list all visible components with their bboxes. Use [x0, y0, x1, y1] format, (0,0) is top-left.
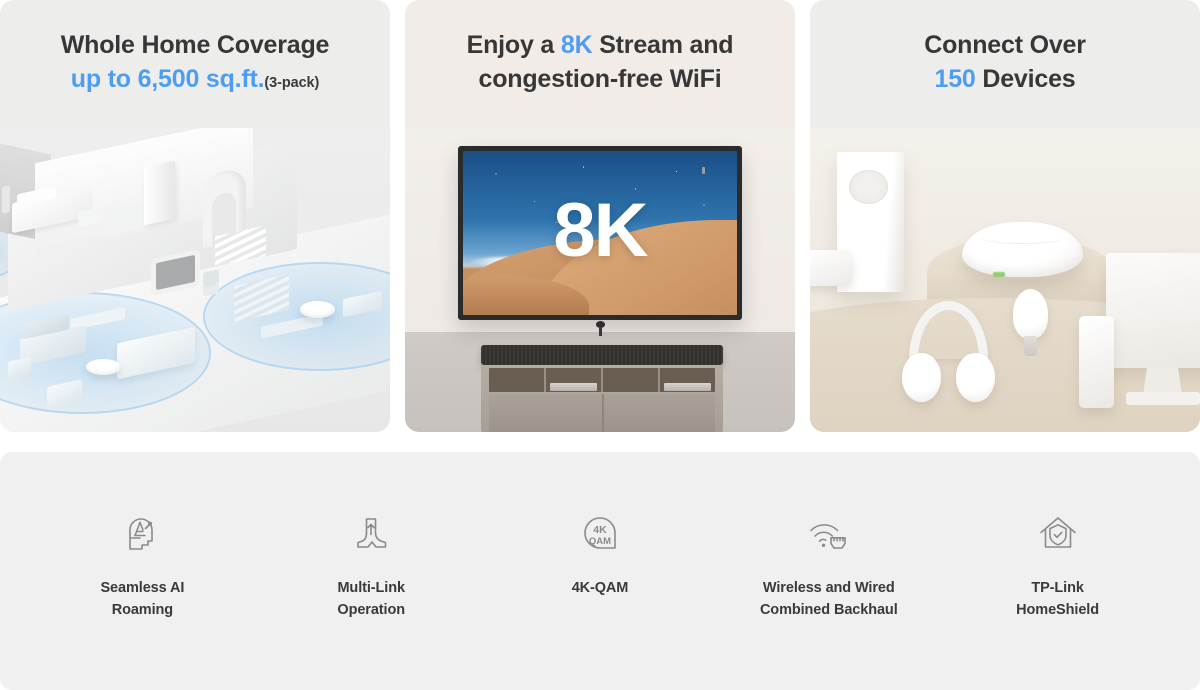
feature-label-line1: Multi-Link [337, 580, 404, 596]
shelf-cell [660, 368, 715, 392]
multi-link-icon [271, 507, 471, 559]
home-shield-icon [958, 507, 1158, 559]
feature-label-line2: Roaming [112, 602, 173, 618]
feature-label: Wireless and Wired Combined Backhaul [729, 577, 929, 622]
feature-label-line1: Seamless AI [100, 580, 184, 596]
mesh-router-unit-2 [300, 301, 335, 317]
card-2-illustration: 8K [405, 128, 795, 432]
feature-wireless-wired-backhaul[interactable]: Wireless and Wired Combined Backhaul [729, 507, 929, 622]
smartphone [1079, 316, 1114, 407]
card-2-heading: Enjoy a 8K Stream and congestion-free Wi… [405, 0, 795, 95]
feature-label: Seamless AI Roaming [42, 577, 242, 622]
card-whole-home-coverage[interactable]: Whole Home Coverage up to 6,500 sq.ft.(3… [0, 0, 390, 432]
card-3-heading-line2: 150 Devices [826, 64, 1184, 96]
card-3-accent-text: 150 [935, 65, 976, 93]
shelf-cell [546, 368, 603, 392]
feature-label-line2: HomeShield [1016, 602, 1099, 618]
card-connect-devices[interactable]: Connect Over 150 Devices [810, 0, 1200, 432]
feature-label: Multi-Link Operation [271, 577, 471, 622]
monitor-screen [1106, 253, 1200, 369]
card-2-heading-line2: congestion-free WiFi [421, 64, 779, 96]
4k-qam-icon: 4K QAM [500, 507, 700, 559]
devices-podium-scene [810, 128, 1200, 432]
card-2-accent-text: 8K [561, 31, 593, 59]
game-controller [810, 250, 853, 286]
headphone-band [909, 301, 988, 359]
feature-label-line2: Operation [337, 602, 405, 618]
feature-multi-link-operation[interactable]: Multi-Link Operation [271, 507, 471, 622]
tv-side-button [702, 167, 705, 174]
feature-cards-row: Whole Home Coverage up to 6,500 sq.ft.(3… [0, 0, 1200, 432]
card-2-heading-line1: Enjoy a 8K Stream and [421, 30, 779, 62]
console-shelf-row [489, 368, 715, 392]
feature-label-line2: Combined Backhaul [760, 602, 898, 618]
headphone-earcup-left [902, 353, 941, 401]
card-3-illustration [810, 128, 1200, 432]
wifi-ethernet-icon [729, 507, 929, 559]
television: 8K [458, 146, 743, 319]
qam-badge-bottom: QAM [589, 536, 611, 547]
card-1-accent-text: up to 6,500 sq.ft. [71, 65, 265, 93]
card-2-heading-pre: Enjoy a [467, 31, 561, 59]
living-room-tv-scene: 8K [405, 128, 795, 432]
bulb-glass [1013, 289, 1048, 338]
feature-tp-link-homeshield[interactable]: TP-Link HomeShield [958, 507, 1158, 622]
card-3-heading-line1: Connect Over [826, 30, 1184, 62]
smart-bulb [1013, 289, 1048, 356]
qam-badge-top: 4K [593, 524, 607, 536]
feature-label: 4K-QAM [500, 577, 700, 599]
tv-screen: 8K [463, 151, 738, 314]
headphone-earcup-right [956, 353, 995, 401]
feature-4k-qam[interactable]: 4K QAM 4K-QAM [500, 507, 700, 599]
shelf-cell [489, 368, 546, 392]
wardrobe [144, 161, 175, 225]
monitor-foot [1126, 392, 1200, 404]
card-3-heading-post: Devices [976, 65, 1076, 93]
card-8k-stream[interactable]: Enjoy a 8K Stream and congestion-free Wi… [405, 0, 795, 432]
feature-page: Whole Home Coverage up to 6,500 sq.ft.(3… [0, 0, 1200, 690]
card-1-heading-line2: up to 6,500 sq.ft.(3-pack) [16, 64, 374, 96]
floor-lamp [2, 185, 10, 214]
av-receiver [550, 383, 596, 391]
card-3-heading: Connect Over 150 Devices [810, 0, 1200, 95]
console-cabinet-doors [489, 394, 715, 432]
isometric-home-scene [0, 128, 390, 432]
feature-label-line1: Wireless and Wired [763, 580, 895, 596]
tv-sensor-mount [596, 321, 605, 328]
mesh-router-product [962, 222, 1083, 277]
bulb-base [1024, 336, 1037, 356]
ai-head-icon [42, 507, 242, 559]
feature-strip: Seamless AI Roaming Multi-Link Operation… [0, 452, 1200, 690]
feature-seamless-ai-roaming[interactable]: Seamless AI Roaming [42, 507, 242, 622]
router-status-led [993, 272, 1005, 276]
card-1-heading-line1: Whole Home Coverage [16, 30, 374, 62]
feature-label-line1: TP-Link [1031, 580, 1083, 596]
card-2-heading-post: Stream and [592, 31, 733, 59]
feature-label: TP-Link HomeShield [958, 577, 1158, 622]
card-1-illustration [0, 128, 390, 432]
feature-label-line1: 4K-QAM [572, 580, 629, 596]
screen-resolution-label: 8K [463, 187, 738, 274]
shelf-cell [603, 368, 660, 392]
card-1-heading: Whole Home Coverage up to 6,500 sq.ft.(3… [0, 0, 390, 95]
headphones [904, 301, 994, 401]
soundbar [481, 345, 723, 365]
set-top-box [664, 383, 710, 391]
potted-plant [203, 269, 219, 297]
card-1-pack-suffix: (3-pack) [264, 75, 319, 91]
